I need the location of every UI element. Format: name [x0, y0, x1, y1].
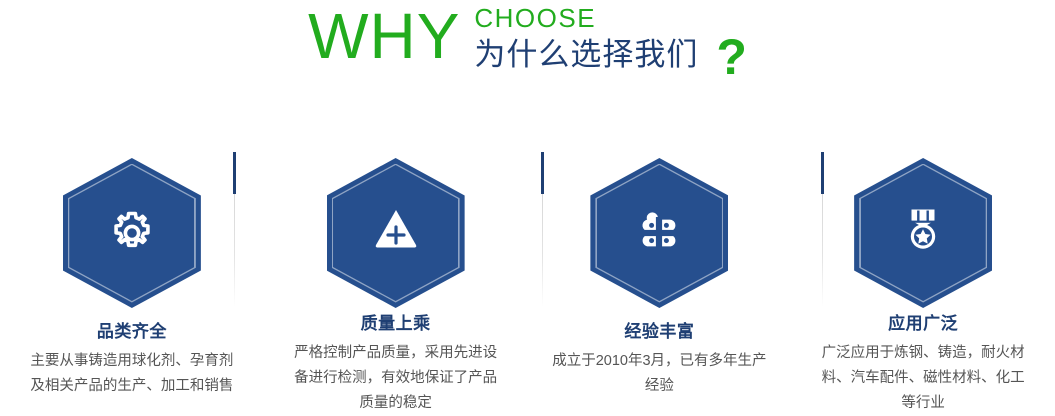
gear-icon [104, 205, 160, 261]
hexagon-badge [590, 158, 728, 308]
heading-chinese-text: 为什么选择我们 [474, 37, 698, 73]
triangle-plus-icon [368, 201, 424, 257]
heading-why-word: WHY [308, 2, 460, 70]
heading-choose-word: CHOOSE [474, 4, 747, 32]
question-mark-icon: ? [716, 37, 747, 77]
why-choose-us-section: WHY CHOOSE 为什么选择我们 ? [0, 0, 1055, 416]
card-description: 成立于2010年3月，已有多年生产经验 [552, 349, 767, 399]
section-heading: WHY CHOOSE 为什么选择我们 ? [0, 0, 1055, 92]
hexagon-badge [63, 158, 201, 308]
feature-card: 经验丰富 成立于2010年3月，已有多年生产经验 [528, 150, 792, 416]
card-title: 应用广泛 [888, 313, 958, 335]
card-description: 主要从事铸造用球化剂、孕育剂及相关产品的生产、加工和销售 [24, 349, 239, 399]
card-description: 广泛应用于炼钢、铸造，耐火材料、汽车配件、磁性材料、化工等行业 [816, 341, 1031, 416]
feature-card: 品类齐全 主要从事铸造用球化剂、孕育剂及相关产品的生产、加工和销售 [0, 150, 264, 416]
medal-icon [895, 201, 951, 257]
hexagon-badge [854, 158, 992, 300]
card-description: 严格控制产品质量，采用先进设备进行检测，有效地保证了产品质量的稳定 [288, 341, 503, 416]
hexagon-badge [327, 158, 465, 300]
clover-icon [631, 205, 687, 261]
feature-card-list: 品类齐全 主要从事铸造用球化剂、孕育剂及相关产品的生产、加工和销售 [0, 150, 1055, 416]
card-title: 品类齐全 [97, 321, 167, 343]
feature-card: 质量上乘 严格控制产品质量，采用先进设备进行检测，有效地保证了产品质量的稳定 [264, 150, 528, 416]
feature-card: 应用广泛 广泛应用于炼钢、铸造，耐火材料、汽车配件、磁性材料、化工等行业 [791, 150, 1055, 416]
card-title: 质量上乘 [361, 313, 431, 335]
card-title: 经验丰富 [624, 321, 694, 343]
